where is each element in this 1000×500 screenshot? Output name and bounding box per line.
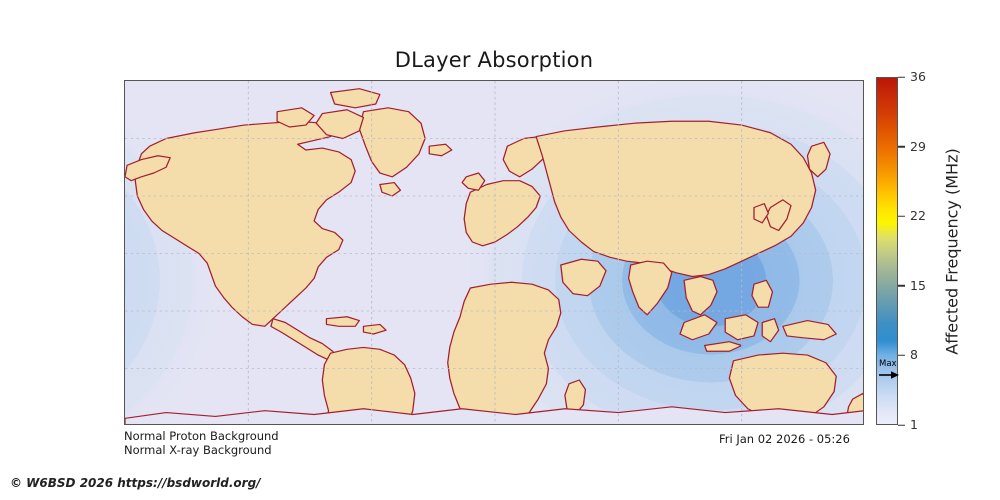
colorbar-axis-label: Affected Frequency (MHz) [940, 77, 964, 425]
colorbar-max-label: Max [879, 360, 899, 369]
copyright-label: © W6BSD 2026 https://bsdworld.org/ [10, 476, 261, 490]
colorbar-tick-22: 22 [898, 210, 926, 223]
tick-dash [898, 285, 905, 286]
tick-dash [898, 424, 905, 425]
timestamp-label: Fri Jan 02 2026 - 05:26 [719, 432, 850, 446]
world-map-plot [124, 80, 864, 425]
colorbar-tick-36: 36 [898, 71, 926, 84]
right-arrow-icon [879, 370, 899, 380]
colorbar-tick-8: 8 [898, 349, 918, 362]
colorbar: Max 36 29 22 15 [876, 77, 898, 425]
tick-dash [898, 215, 905, 216]
xray-background-label: Normal X-ray Background [124, 443, 272, 457]
tick-dash [898, 355, 905, 356]
colorbar-gradient-frame: Max [876, 77, 898, 425]
colorbar-max-marker: Max [879, 360, 899, 380]
proton-background-label: Normal Proton Background [124, 429, 279, 443]
colorbar-tick-1: 1 [898, 419, 918, 432]
colorbar-axis-label-text: Affected Frequency (MHz) [943, 148, 962, 354]
map-clip [125, 81, 863, 424]
colorbar-tick-15: 15 [898, 280, 926, 293]
chart-title: DLayer Absorption [0, 48, 1000, 72]
map-svg [125, 81, 863, 424]
tick-dash [898, 76, 905, 77]
colorbar-tick-29: 29 [898, 140, 926, 153]
chart-title-text: DLayer Absorption [395, 48, 593, 72]
tick-dash [898, 146, 905, 147]
